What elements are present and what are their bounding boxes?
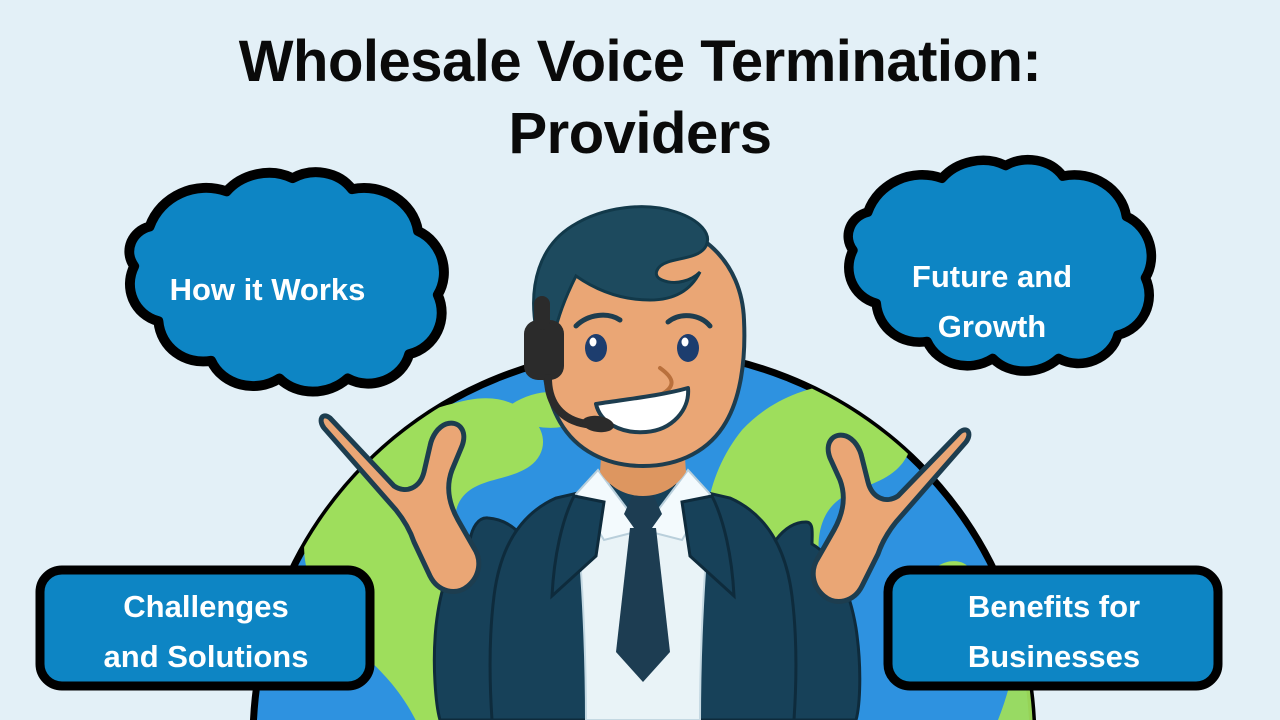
page-title: Wholesale Voice Termination: Providers xyxy=(0,26,1280,170)
callout-cloud-how-it-works[interactable] xyxy=(129,172,444,391)
callout-box-challenges-and-solutions[interactable] xyxy=(40,570,370,686)
slide-canvas: Wholesale Voice Termination: Providers H… xyxy=(0,0,1280,720)
callout-box-benefits-for-businesses[interactable] xyxy=(888,570,1218,686)
callout-cloud-future-and-growth[interactable] xyxy=(848,160,1151,371)
